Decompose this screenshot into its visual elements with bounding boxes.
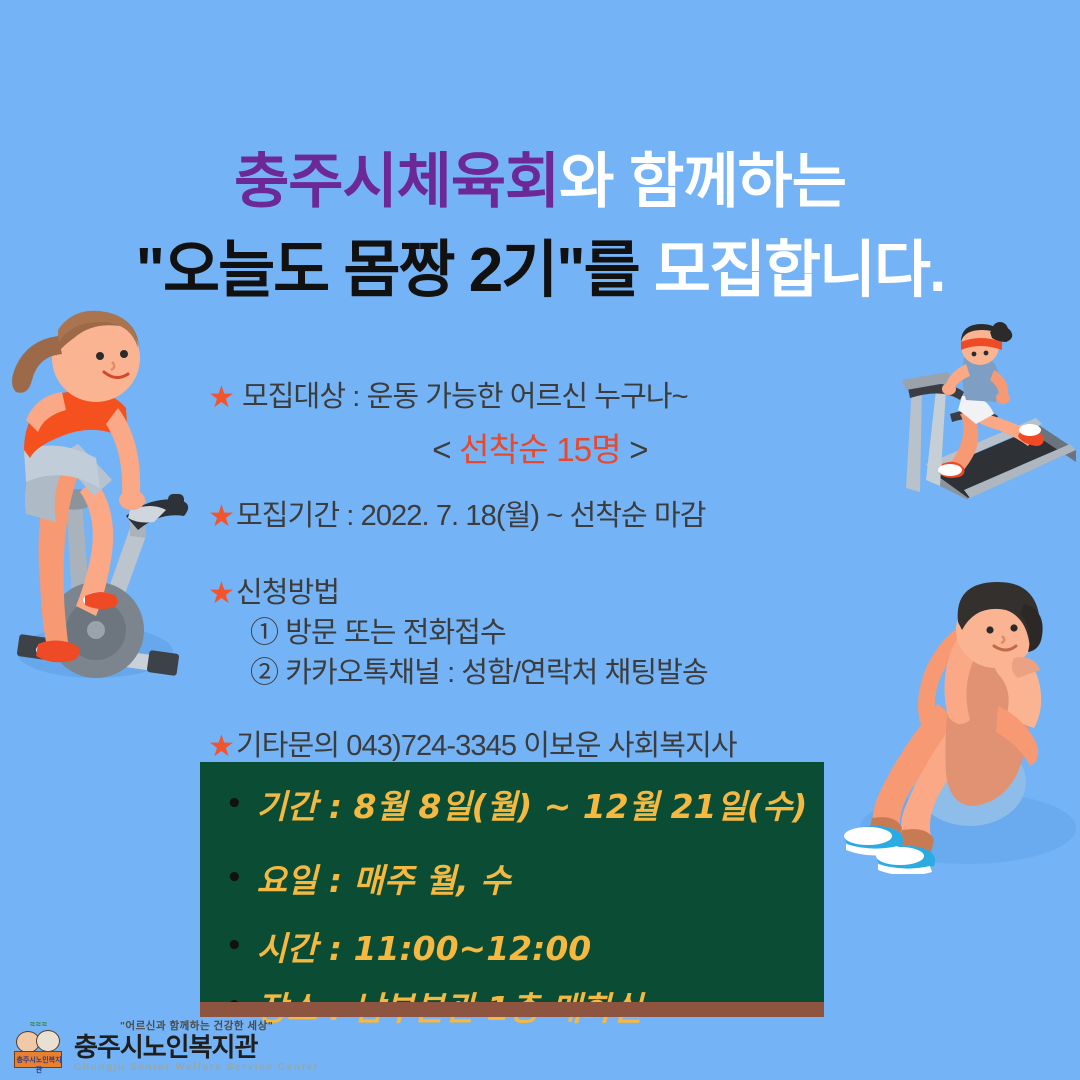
capacity-value: 선착순 15명 <box>459 431 621 468</box>
detail-period-label: 모집기간 : 2022. 7. 18(월) ~ 선착순 마감 <box>236 497 706 535</box>
star-icon: ★ <box>208 574 234 613</box>
capacity-bracket-open: < <box>432 431 459 468</box>
footer-org-name-en: Chungju Senior Welfare Service Center <box>74 1062 319 1073</box>
title-program-name: "오늘도 몸짱 2기"를 <box>136 236 639 305</box>
treadmill-illustration <box>890 322 1080 502</box>
title-accent-org: 충주시체육회 <box>234 148 559 215</box>
logo-nameplate-text: 충주시노인복지관 <box>15 1055 63 1075</box>
board-ledge <box>200 1002 824 1017</box>
star-icon: ★ <box>208 497 234 536</box>
footer-org-name: 충주시노인복지관 <box>74 1034 319 1060</box>
title-line-1-rest: 와 함께하는 <box>559 148 846 215</box>
board-item-label: 기간 : 8월 8일(월) ~ 12월 21일(수) <box>257 780 808 828</box>
footer-logo: ≈≈≈ 충주시노인복지관 "어르신과 함께하는 건강한 세상" 충주시노인복지관… <box>10 1018 319 1073</box>
logo-nameplate: 충주시노인복지관 <box>14 1051 62 1068</box>
board-item-label: 시간 : 11:00~12:00 <box>257 922 592 970</box>
title-line-1: 충주시체육회와 함께하는 <box>0 150 1080 215</box>
detail-target-label: 모집대상 : 운동 가능한 어르신 누구나~ <box>242 378 688 416</box>
bullet-icon: • <box>226 791 243 817</box>
star-icon: ★ <box>208 727 234 766</box>
bullet-icon: • <box>226 933 243 959</box>
capacity-bracket-close: > <box>621 431 648 468</box>
board-item-weekday: • 요일 : 매주 월, 수 <box>226 854 824 902</box>
poster-title: 충주시체육회와 함께하는 "오늘도 몸짱 2기"를 모집합니다. <box>0 150 1080 306</box>
spacer <box>226 828 824 854</box>
schedule-board: • 기간 : 8월 8일(월) ~ 12월 21일(수) • 요일 : 매주 월… <box>200 762 824 1002</box>
spacer <box>226 902 824 922</box>
footer-logo-text: "어르신과 함께하는 건강한 세상" 충주시노인복지관 Chungju Seni… <box>74 1018 319 1073</box>
title-line-2-rest: 모집합니다. <box>639 236 945 305</box>
logo-face-right <box>36 1030 60 1052</box>
board-item-period: • 기간 : 8월 8일(월) ~ 12월 21일(수) <box>226 780 824 828</box>
logo-rays: ≈≈≈ <box>18 1019 60 1031</box>
board-item-label: 요일 : 매주 월, 수 <box>257 854 511 902</box>
spacer <box>226 970 824 982</box>
board-item-time: • 시간 : 11:00~12:00 <box>226 922 824 970</box>
footer-tagline: "어르신과 함께하는 건강한 세상" <box>74 1018 319 1033</box>
senior-couple-logo-icon: ≈≈≈ 충주시노인복지관 <box>10 1019 68 1071</box>
star-icon: ★ <box>208 378 234 417</box>
exercise-bike-illustration <box>0 300 200 700</box>
situp-illustration <box>838 578 1080 874</box>
bullet-icon: • <box>226 865 243 891</box>
detail-inquiry-label: 기타문의 043)724-3345 이보운 사회복지사 <box>236 727 737 765</box>
title-line-2: "오늘도 몸짱 2기"를 모집합니다. <box>0 235 1080 306</box>
detail-method-label: 신청방법 <box>236 574 339 612</box>
